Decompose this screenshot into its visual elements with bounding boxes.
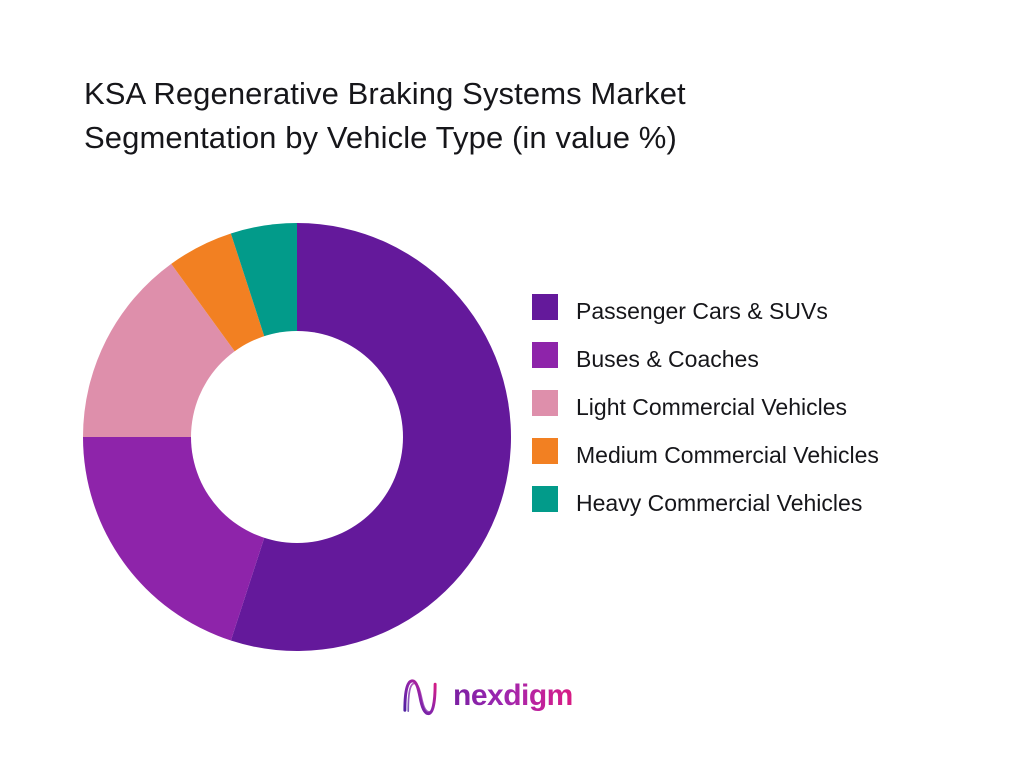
legend-item[interactable]: Passenger Cars & SUVs (532, 292, 1002, 330)
legend-item-label: Heavy Commercial Vehicles (576, 484, 862, 522)
donut-chart (83, 223, 511, 651)
legend-swatch-icon (532, 342, 558, 368)
legend-item[interactable]: Buses & Coaches (532, 340, 1002, 378)
nexdigm-n-mark-icon (399, 675, 441, 717)
nexdigm-logo: nexdigm (399, 673, 573, 719)
legend-item-label: Light Commercial Vehicles (576, 388, 847, 426)
legend-item-label: Passenger Cars & SUVs (576, 292, 828, 330)
donut-svg (83, 223, 511, 651)
page-title: KSA Regenerative Braking Systems Market … (84, 72, 844, 160)
legend-item[interactable]: Medium Commercial Vehicles (532, 436, 1002, 474)
legend-item[interactable]: Heavy Commercial Vehicles (532, 484, 1002, 522)
legend-item-label: Buses & Coaches (576, 340, 759, 378)
legend-item-label: Medium Commercial Vehicles (576, 436, 879, 474)
legend-swatch-icon (532, 390, 558, 416)
chart-legend: Passenger Cars & SUVsBuses & CoachesLigh… (532, 292, 1002, 532)
nexdigm-wordmark: nexdigm (453, 675, 573, 717)
legend-swatch-icon (532, 294, 558, 320)
legend-item[interactable]: Light Commercial Vehicles (532, 388, 1002, 426)
legend-swatch-icon (532, 486, 558, 512)
donut-hole (191, 331, 403, 543)
chart-page: KSA Regenerative Braking Systems Market … (0, 0, 1024, 768)
legend-swatch-icon (532, 438, 558, 464)
